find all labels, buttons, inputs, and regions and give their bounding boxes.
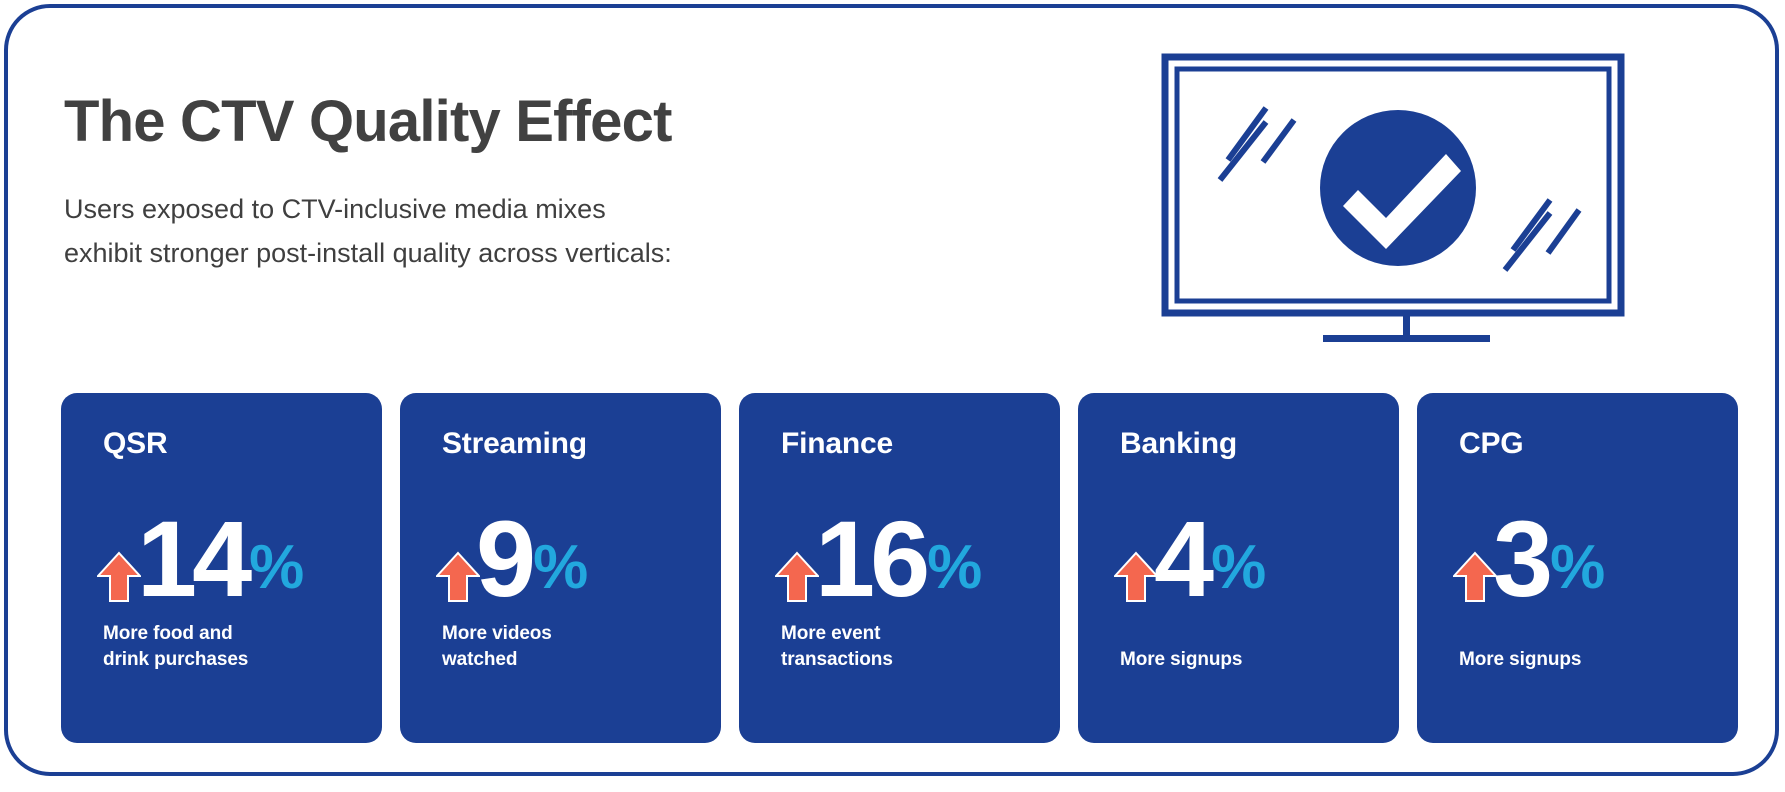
- outer-frame-border: The CTV Quality Effect Users exposed to …: [4, 4, 1779, 776]
- card-title: QSR: [103, 429, 382, 459]
- shine-lines-bottom-right: [1505, 200, 1579, 270]
- percent-symbol: %: [533, 537, 587, 599]
- stat-value: 4: [1154, 514, 1209, 605]
- stat-row: 4 %: [1114, 509, 1265, 605]
- stat-card-cpg[interactable]: CPG 3 % More signups: [1417, 393, 1738, 743]
- check-badge-circle: [1320, 110, 1476, 266]
- stat-value: 16: [815, 514, 925, 605]
- arrow-up-icon: [775, 551, 819, 603]
- stat-card-streaming[interactable]: Streaming 9 % More videos watched: [400, 393, 721, 743]
- caption-line-1: More event: [781, 621, 893, 647]
- percent-symbol: %: [1550, 537, 1604, 599]
- stat-card-qsr[interactable]: QSR 14 % More food and drink purchases: [61, 393, 382, 743]
- card-title: Finance: [781, 429, 1060, 459]
- card-caption: More videos watched: [442, 621, 552, 673]
- caption-line-2: drink purchases: [103, 647, 248, 673]
- tv-illustration: [1158, 50, 1658, 350]
- caption-line-1: More signups: [1459, 647, 1581, 673]
- stat-value: 14: [137, 514, 247, 605]
- stat-row: 3 %: [1453, 509, 1604, 605]
- card-title: Streaming: [442, 429, 721, 459]
- page-subtitle: Users exposed to CTV-inclusive media mix…: [64, 188, 984, 275]
- stat-row: 9 %: [436, 509, 587, 605]
- card-caption: More signups: [1120, 647, 1242, 673]
- stat-row: 14 %: [97, 509, 303, 605]
- percent-symbol: %: [927, 537, 981, 599]
- header-block: The CTV Quality Effect Users exposed to …: [64, 93, 984, 275]
- percent-symbol: %: [1211, 537, 1265, 599]
- card-caption: More event transactions: [781, 621, 893, 673]
- caption-line-2: watched: [442, 647, 552, 673]
- card-title: Banking: [1120, 429, 1399, 459]
- percent-symbol: %: [249, 537, 303, 599]
- card-caption: More food and drink purchases: [103, 621, 248, 673]
- stat-card-banking[interactable]: Banking 4 % More signups: [1078, 393, 1399, 743]
- shine-lines-top-left: [1220, 108, 1294, 180]
- arrow-up-icon: [1453, 551, 1497, 603]
- caption-line-1: More videos: [442, 621, 552, 647]
- caption-line-2: transactions: [781, 647, 893, 673]
- arrow-up-icon: [436, 551, 480, 603]
- stat-value: 9: [476, 514, 531, 605]
- card-title: CPG: [1459, 429, 1738, 459]
- caption-line-1: More signups: [1120, 647, 1242, 673]
- arrow-up-icon: [97, 551, 141, 603]
- stat-card-finance[interactable]: Finance 16 % More event transactions: [739, 393, 1060, 743]
- card-caption: More signups: [1459, 647, 1581, 673]
- stat-row: 16 %: [775, 509, 981, 605]
- subtitle-line-2: exhibit stronger post-install quality ac…: [64, 232, 984, 276]
- stat-value: 3: [1493, 514, 1548, 605]
- caption-line-1: More food and: [103, 621, 248, 647]
- tv-stand-base: [1323, 335, 1490, 342]
- subtitle-line-1: Users exposed to CTV-inclusive media mix…: [64, 188, 984, 232]
- arrow-up-icon: [1114, 551, 1158, 603]
- stat-cards-row: QSR 14 % More food and drink purchases: [61, 393, 1738, 743]
- page-title: The CTV Quality Effect: [64, 93, 984, 151]
- infographic-root: The CTV Quality Effect Users exposed to …: [0, 0, 1785, 792]
